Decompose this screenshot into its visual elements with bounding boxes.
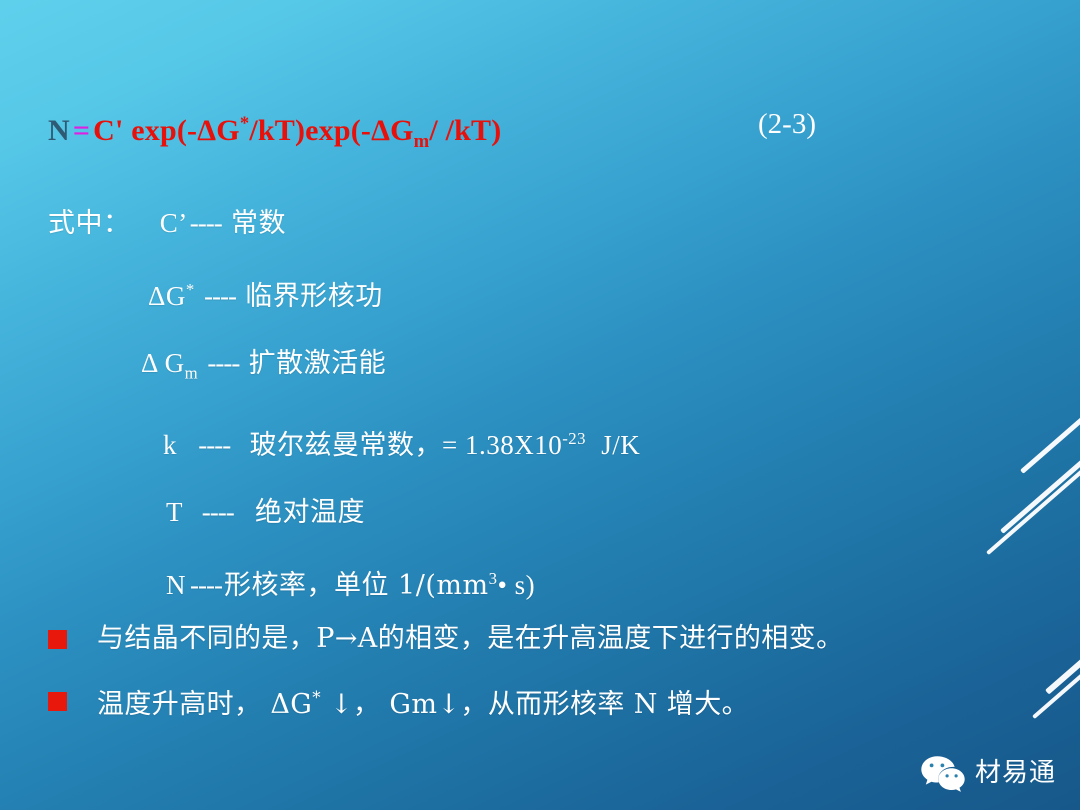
equation-rhs-subscript-2: m — [414, 131, 430, 152]
definition-line-4: T ---- 绝对温度 — [48, 479, 1048, 546]
definition-dash-4: ---- — [190, 497, 236, 527]
equation-rhs: C' exp(-ΔG*/kT)exp(-ΔGm/ /kT) — [93, 114, 501, 147]
watermark-label: 材易通 — [975, 758, 1056, 788]
definition-symbol-5: N — [166, 570, 186, 600]
wechat-icon — [920, 754, 966, 792]
equation-number: (2-3) — [758, 104, 816, 144]
bullet-text-2: 温度升高时， ΔG* ↓， Gm↓，从而形核率 N 增大。 — [97, 680, 749, 722]
definition-meaning-0: 常数 — [231, 208, 286, 239]
definition-value-unit-3: J/K — [593, 430, 640, 460]
definition-line-3: k ---- 玻尔兹曼常数，= 1.38X10-23 J/K — [48, 406, 1048, 479]
definition-meaning-2: 扩散激活能 — [249, 348, 387, 379]
definition-dash-1: ---- — [202, 281, 238, 311]
square-bullet-icon — [48, 630, 67, 649]
bullet-list: 与结晶不同的是，P→A的相变，是在升高温度下进行的相变。 温度升高时， ΔG* … — [48, 608, 1058, 732]
definition-line-heading: 式中： C’---- 常数 — [48, 190, 1048, 257]
bullet-text-2-superscript: * — [312, 687, 321, 707]
definition-meaning-3: 玻尔兹曼常数， — [239, 430, 442, 461]
definition-line-1: ΔG* ---- 临界形核功 — [48, 257, 1048, 330]
definition-symbol-3: k — [163, 430, 177, 460]
definition-meaning-tail-5: • s) — [497, 570, 535, 600]
definition-meaning-4: 绝对温度 — [243, 497, 365, 528]
bullet-text-2-pre: 温度升高时， ΔG — [97, 689, 312, 720]
definition-value-superscript-3: -23 — [562, 429, 586, 448]
definition-symbol-1: ΔG — [148, 281, 186, 311]
definition-meaning-5: 形核率，单位 1/(mm — [224, 570, 489, 601]
definition-dash-3: ---- — [184, 430, 232, 460]
square-bullet-icon — [48, 692, 67, 711]
bullet-item-1: 与结晶不同的是，P→A的相变，是在升高温度下进行的相变。 — [48, 608, 1058, 670]
definition-symbol-2: Δ G — [141, 348, 185, 378]
definition-dash-5: ---- — [186, 570, 224, 600]
equation-rhs-post: / /kT) — [429, 114, 501, 147]
bullet-text-2-post: ↓， Gm↓，从而形核率 N 增大。 — [321, 689, 749, 720]
equation-formula: N=C' exp(-ΔG*/kT)exp(-ΔGm/ /kT) — [48, 104, 501, 162]
equation-rhs-symbol-2: ΔG — [371, 114, 414, 147]
equation-lhs: N — [48, 114, 70, 147]
equation-rhs-superscript-1: * — [240, 113, 250, 134]
definition-value-prefix-3: = 1.38X10 — [442, 430, 562, 460]
definition-meaning-1: 临界形核功 — [245, 281, 383, 312]
equation-rhs-symbol-1: ΔG — [197, 114, 240, 147]
definition-symbol-0: C’ — [138, 208, 188, 238]
definition-dash-0: ---- — [188, 208, 224, 238]
equation-rhs-mid: /kT)exp(- — [249, 114, 371, 147]
wechat-watermark: 材易通 — [920, 754, 1056, 792]
definition-superscript-1: * — [186, 280, 195, 299]
definition-symbol-4: T — [166, 497, 183, 527]
definitions-heading: 式中： — [48, 208, 131, 239]
definition-line-2: Δ Gm ---- 扩散激活能 — [48, 330, 1048, 406]
slide-canvas: N=C' exp(-ΔG*/kT)exp(-ΔGm/ /kT) (2-3) 式中… — [0, 0, 1080, 810]
equation-rhs-pre: C' exp(- — [93, 114, 197, 147]
definition-list: 式中： C’---- 常数 ΔG* ---- 临界形核功 Δ Gm ---- 扩… — [48, 190, 1048, 619]
bullet-text-1: 与结晶不同的是，P→A的相变，是在升高温度下进行的相变。 — [97, 622, 844, 656]
equation-operator: = — [70, 114, 93, 147]
equation-row: N=C' exp(-ΔG*/kT)exp(-ΔGm/ /kT) (2-3) — [48, 104, 1038, 152]
bullet-item-2: 温度升高时， ΔG* ↓， Gm↓，从而形核率 N 增大。 — [48, 670, 1058, 732]
definition-subscript-2: m — [185, 363, 199, 382]
definition-dash-2: ---- — [205, 348, 241, 378]
